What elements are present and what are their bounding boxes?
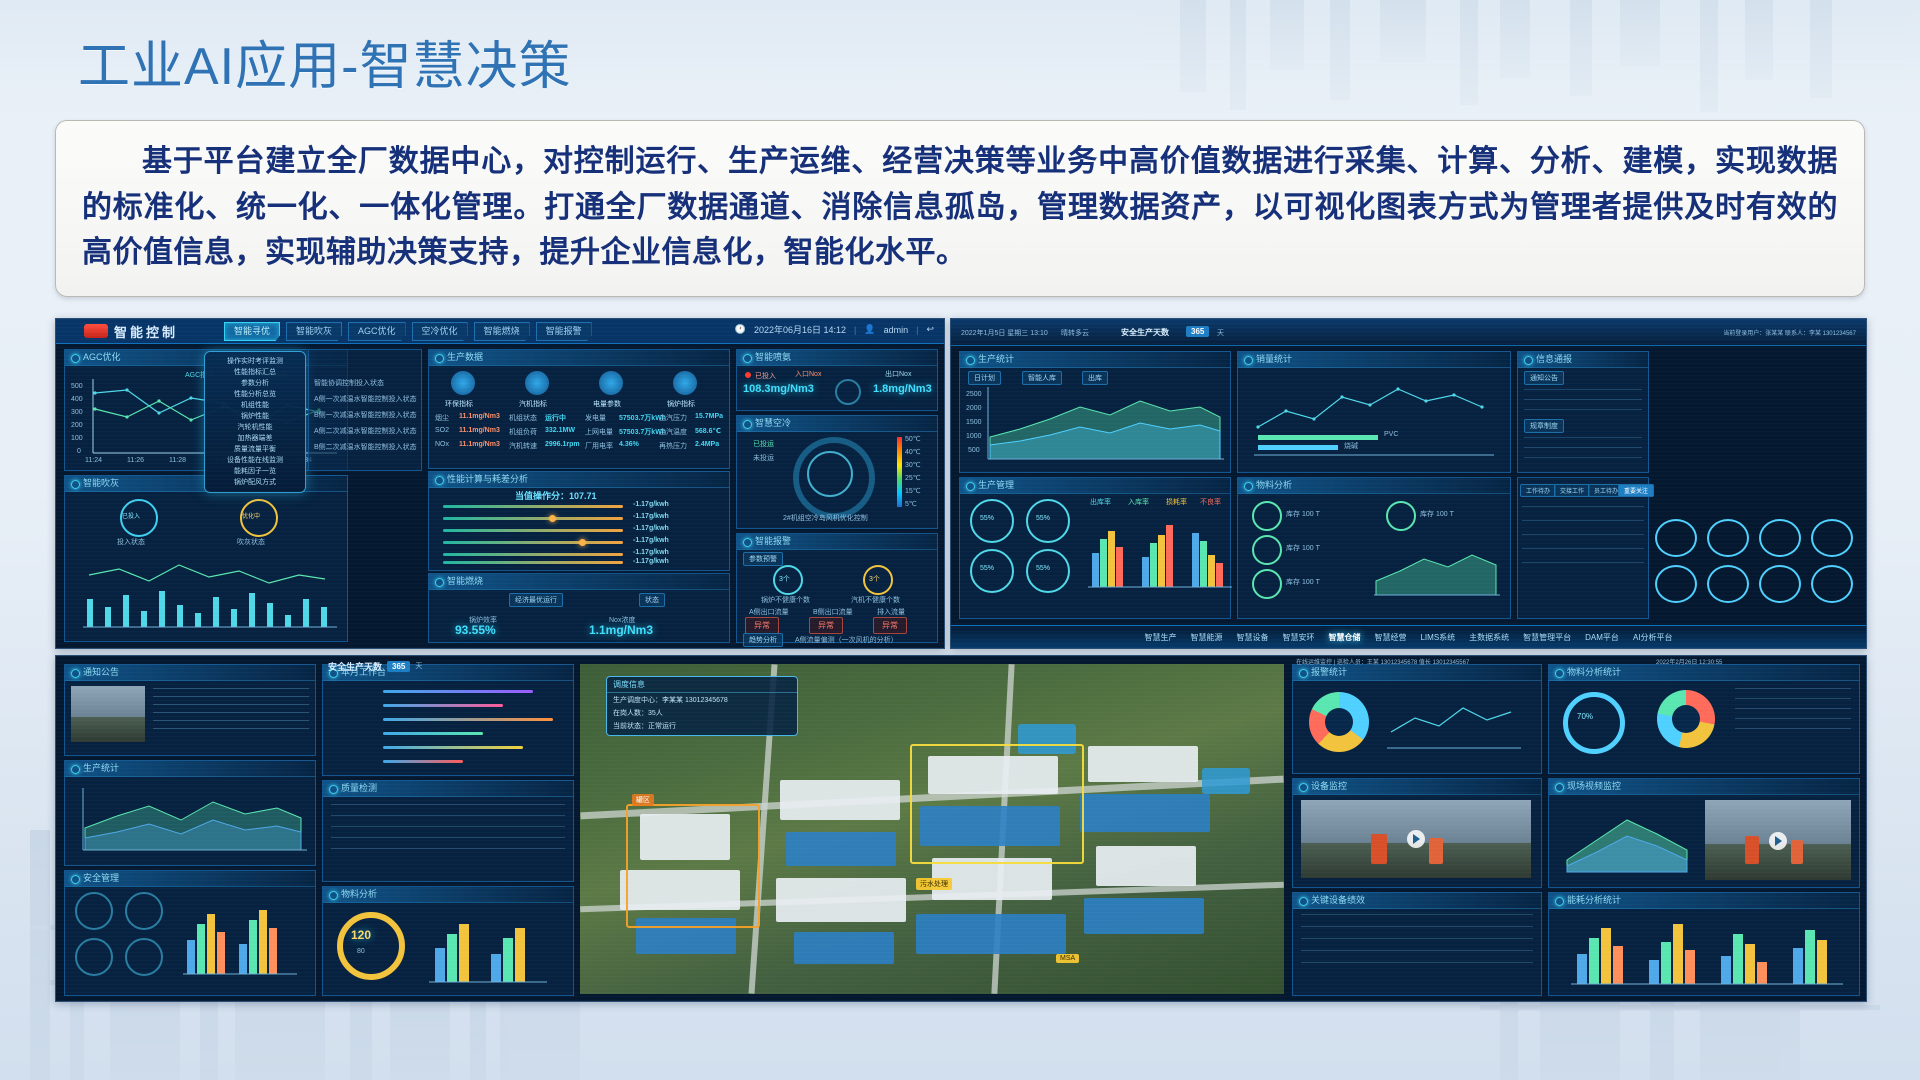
boiler-icon <box>673 371 697 395</box>
panel-c-safety: 安全管理 <box>64 870 316 996</box>
clock-icon: 🕐 <box>735 324 746 335</box>
panel-b-worklist: 工作待办 交接工作 员工待办 重要关注 <box>1517 477 1649 619</box>
c-safety-bar-chart <box>177 894 307 984</box>
ammonia-outlet-value: 1.8mg/Nm3 <box>873 383 932 395</box>
panel-c-news: 通知公告 <box>64 664 316 756</box>
prod-2-2-value: 4.36% <box>619 441 639 448</box>
screenshot-smart-warehouse-dashboard: 2022年1月5日 星期三 13:10 晴转多云 安全生产天数 365 天 当前… <box>950 318 1867 649</box>
prod-1-0-value: 运行中 <box>545 413 566 423</box>
panel-c-alarm-title: 报警统计 <box>1293 665 1541 681</box>
bottom-nav-9[interactable]: DAM平台 <box>1585 632 1619 643</box>
c-alarm-donut <box>1309 692 1369 752</box>
play-icon[interactable] <box>1407 830 1425 848</box>
panel-c-qc-body <box>323 796 573 881</box>
panel-ammonia-body: 已投入 入口Nox 108.3mg/Nm3 出口Nox 1.8mg/Nm3 <box>737 365 937 410</box>
aerial-info-line-1: 在岗人数：35人 <box>607 709 797 722</box>
alarm-param-title: 参数预警 <box>743 552 783 566</box>
tab-intelligent-combustion[interactable]: 智能燃烧 <box>474 322 530 341</box>
panel-b-info-bulletin: 信息通报 通知公告 规章制度 <box>1517 351 1649 473</box>
panel-intelligent-combustion: 智能燃烧 经济最优运行 状态 锅炉效率 93.55% Nox浓度 1.1mg/N… <box>428 573 730 643</box>
c-analysis-gauge <box>1563 692 1625 754</box>
ammonia-flow-icon <box>835 379 861 405</box>
panel-c-analysis: 物料分析统计 70% <box>1548 664 1860 774</box>
panel-b-material-analysis: 物料分析 库存 100 T 库存 100 T 库存 100 T 库存 100 T <box>1237 477 1511 619</box>
alarm-status-0[interactable]: 异常 <box>745 617 779 634</box>
control-status-row-2: A侧二次减温水智能控制投入状态 <box>314 426 417 436</box>
b-prod-area-chart <box>960 367 1230 467</box>
control-status-row-1: B侧一次减温水智能控制投入状态 <box>314 410 417 420</box>
panel-c-qc-title: 质量检测 <box>323 781 573 797</box>
tab-intelligent-optimization[interactable]: 智能寻优 <box>224 322 280 341</box>
prod-group-1-name: 汽机指标 <box>519 399 547 409</box>
alarm-button-2-label: 排入流量 <box>877 607 905 617</box>
soot-status-left: 已投入 <box>122 511 140 520</box>
dashboard-c-header: 安全生产天数 365 天 <box>320 656 588 676</box>
panel-c-safety-title: 安全管理 <box>65 871 315 887</box>
header-datetime: 2022年06月16日 14:12 <box>754 323 846 336</box>
panel-b-manage-title: 生产管理 <box>960 478 1230 494</box>
panel-production-body: 环保指标 汽机指标 电量参数 锅炉指标 烟尘 11.1mg/Nm3 SO2 11… <box>429 365 729 468</box>
user-icon: 👤 <box>864 324 875 335</box>
c-count-b: 70% <box>1577 712 1593 721</box>
aerial-info-line-0: 生产调度中心：李某某 13012345678 <box>607 693 797 709</box>
menu-item-9[interactable]: 设备性能在线监测 <box>205 455 305 466</box>
panel-alarm-title: 智能报警 <box>737 534 937 550</box>
menu-item-8[interactable]: 质量流量平衡 <box>205 444 305 455</box>
aircool-caption: 2#机组空冷岛风机优化控制 <box>783 513 868 523</box>
agc-x-tick-3: 11:28 <box>169 457 186 464</box>
perf-row-3-delta: -1.17g/kwh <box>633 537 669 544</box>
dashboard-a-tabs: 智能寻优 智能吹灰 AGC优化 空冷优化 智能燃烧 智能报警 <box>224 322 592 341</box>
perf-row-4-delta: -1.17g/kwh <box>633 549 669 556</box>
panel-c-kpi-title: 关键设备绩效 <box>1293 893 1541 909</box>
prod-0-1-label: SO2 <box>435 427 449 434</box>
aerial-tag-1: 污水处理 <box>916 878 952 890</box>
tab-agc-optimization[interactable]: AGC优化 <box>348 322 406 341</box>
panel-c-news-title: 通知公告 <box>65 665 315 681</box>
panel-air-cooling: 智慧空冷 已投运 未投运 50℃ 40℃ 30℃ 25℃ 15℃ 5℃ 2#机组… <box>736 415 938 529</box>
bottom-nav-6[interactable]: LIMS系统 <box>1420 632 1455 643</box>
panel-c-energy-body <box>1549 908 1859 995</box>
menu-item-1[interactable]: 性能指标汇总 <box>205 367 305 378</box>
prod-group-2-name: 电量参数 <box>593 399 621 409</box>
prod-group-3-name: 锅炉指标 <box>667 399 695 409</box>
b-manage-legend-0: 出库率 <box>1090 497 1111 507</box>
bottom-nav-7[interactable]: 主数据系统 <box>1469 632 1509 643</box>
device-video-feed[interactable] <box>1301 800 1531 878</box>
perf-score-colon: ： <box>560 491 569 501</box>
panel-b-material-title: 物料分析 <box>1238 478 1510 494</box>
dashboard-a-topbar: 智能控制 智能寻优 智能吹灰 AGC优化 空冷优化 智能燃烧 智能报警 🕐 20… <box>56 319 944 344</box>
bottom-nav-0[interactable]: 智慧生产 <box>1144 632 1176 643</box>
panel-ammonia-title: 智能喷氨 <box>737 350 937 366</box>
agc-x-tick-2: 11:26 <box>127 457 144 464</box>
panel-c-devmon-body <box>1293 794 1541 887</box>
screenshot-plant-overview-dashboard: 通知公告 生产统计 <box>55 655 1867 1002</box>
bottom-nav-1[interactable]: 智慧能源 <box>1190 632 1222 643</box>
panel-b-info-title: 信息通报 <box>1518 352 1648 368</box>
prod-0-2-value: 11.1mg/Nm3 <box>459 441 500 448</box>
aerial-info-line-2: 当前状态：正常运行 <box>607 722 797 735</box>
panel-combustion-title: 智能燃烧 <box>429 574 729 590</box>
panel-b-production-stats: 生产统计 日计划 智能人库 出库 2500 2000 1500 1000 500 <box>959 351 1231 473</box>
bottom-nav-2[interactable]: 智慧设备 <box>1236 632 1268 643</box>
dashboard-b-topbar: 2022年1月5日 星期三 13:10 晴转多云 安全生产天数 365 天 当前… <box>951 319 1866 346</box>
prod-1-2-value: 2996.1rpm <box>545 441 580 448</box>
alarm-count-right: 3个 <box>869 574 880 584</box>
tab-intelligent-alarm[interactable]: 智能报警 <box>536 322 592 341</box>
panel-c-prod-body <box>65 776 315 865</box>
b-material-item-1: 库存 100 T <box>1286 543 1320 553</box>
meta-divider: | <box>854 325 856 335</box>
prod-0-2-label: NOx <box>435 441 449 448</box>
perf-score-label: 当值操作分 <box>515 491 560 501</box>
panel-soot-blowing: 智能吹灰 已投入 优化中 投入状态 吹灰状态 <box>64 475 348 642</box>
site-video-feed[interactable] <box>1705 800 1851 880</box>
control-status-row-0: A侧一次减温水智能控制投入状态 <box>314 394 417 404</box>
prod-1-0-label: 机组状态 <box>509 413 537 423</box>
bottom-nav-8[interactable]: 智慧管理平台 <box>1523 632 1571 643</box>
aerial-annotation-box-1 <box>626 804 760 928</box>
panel-b-sales-title: 销量统计 <box>1238 352 1510 368</box>
dashboard-b-right-meta: 当前登录用户：张某某 联系人：李某 1301234567 <box>1723 328 1856 337</box>
aerial-info-card: 调度信息 生产调度中心：李某某 13012345678 在岗人数：35人 当前状… <box>606 676 798 736</box>
panel-b-material-body: 库存 100 T 库存 100 T 库存 100 T 库存 100 T <box>1238 493 1510 618</box>
ammonia-inlet-label: 入口Nox <box>795 369 821 379</box>
dashboard-b-safety-value: 365 <box>1186 326 1209 337</box>
menu-item-3[interactable]: 性能分析总览 <box>205 389 305 400</box>
alarm-count-left: 3个 <box>779 574 790 584</box>
c-gauge-ring <box>337 912 405 980</box>
panel-b-worklist-body: 工作待办 交接工作 员工待办 重要关注 <box>1518 480 1648 618</box>
c-gauge-sub: 80 <box>357 948 365 955</box>
dashboard-b-safety-unit: 天 <box>1217 328 1224 338</box>
panel-c-analysis-title: 物料分析统计 <box>1549 665 1859 681</box>
alarm-status-2[interactable]: 异常 <box>873 617 907 634</box>
aircool-status-on: 已投运 <box>753 439 774 449</box>
b-worklist-tab-1[interactable]: 交接工作 <box>1554 484 1590 497</box>
turbine-icon <box>525 371 549 395</box>
play-icon-2[interactable] <box>1769 832 1787 850</box>
soot-status-right: 优化中 <box>242 511 260 520</box>
prod-1-1-value: 332.1MW <box>545 427 575 434</box>
b-worklist-tab-3[interactable]: 重要关注 <box>1618 484 1654 497</box>
b-sales-bar-label-0: PVC <box>1384 431 1398 438</box>
b-manage-bar-chart <box>1080 511 1240 591</box>
panel-control-status-body: 智能协调控制投入状态 A侧一次减温水智能控制投入状态 B侧一次减温水智能控制投入… <box>309 352 421 470</box>
dashboard-a-brand: 智能控制 <box>114 322 178 341</box>
dashboard-c-header-value: 365 <box>387 661 410 672</box>
prod-0-0-value: 11.1mg/Nm3 <box>459 413 500 420</box>
panel-aircool-title: 智慧空冷 <box>737 416 937 432</box>
bottom-nav-4[interactable]: 智慧仓储 <box>1328 632 1360 643</box>
prod-1-2-label: 汽机转速 <box>509 441 537 451</box>
aircool-legend-5: 5℃ <box>905 500 917 508</box>
panel-b-manage-body: 55% 55% 55% 55% 出库率 入库率 损耗率 不良率 <box>960 493 1230 618</box>
tab-air-cooling[interactable]: 空冷优化 <box>412 322 468 341</box>
prod-2-0-label: 发电量 <box>585 413 606 423</box>
b-manage-pct-2: 55% <box>980 565 994 572</box>
aircool-legend-2: 30℃ <box>905 461 921 469</box>
panel-b-info-body: 通知公告 规章制度 <box>1518 367 1648 472</box>
b-info-section-0[interactable]: 通知公告 <box>1524 371 1564 385</box>
b-sales-line-chart <box>1238 367 1510 467</box>
aircool-legend-4: 15℃ <box>905 487 921 495</box>
panel-c-alarm-stats: 报警统计 <box>1292 664 1542 774</box>
b-manage-pct-1: 55% <box>1036 515 1050 522</box>
back-arrow-icon[interactable]: ↩ <box>926 324 934 335</box>
prod-3-0-label: 主汽压力 <box>659 413 687 423</box>
alarm-button-0-label: A侧出口流量 <box>749 607 789 617</box>
prod-3-0-value: 15.7MPa <box>695 413 723 420</box>
panel-performance-title: 性能计算与耗差分析 <box>429 472 729 488</box>
b-manage-legend-2: 损耗率 <box>1166 497 1187 507</box>
prod-0-0-label: 烟尘 <box>435 413 449 423</box>
header-username: admin <box>884 325 909 335</box>
menu-item-6[interactable]: 汽轮机性能 <box>205 422 305 433</box>
alarm-label-right: 汽机不健康个数 <box>851 595 900 605</box>
perf-row-5-delta: -1.17g/kwh <box>633 558 669 565</box>
combustion-metric1-value: 93.55% <box>455 623 496 637</box>
prod-1-1-label: 机组负荷 <box>509 427 537 437</box>
perf-row-1-delta: -1.17g/kwh <box>633 513 669 520</box>
panel-ammonia-injection: 智能喷氨 已投入 入口Nox 108.3mg/Nm3 出口Nox 1.8mg/N… <box>736 349 938 411</box>
combustion-header-right: 状态 <box>639 593 665 607</box>
b-manage-pct-3: 55% <box>1036 565 1050 572</box>
panel-c-kpi: 关键设备绩效 <box>1292 892 1542 996</box>
recycle-icon <box>451 371 475 395</box>
control-status-title: 智能协调控制投入状态 <box>314 378 384 388</box>
description-text: 基于平台建立全厂数据中心，对控制运行、生产运维、经营决策等业务中高价值数据进行采… <box>82 139 1838 276</box>
alarm-trend-title[interactable]: 趋势分析 <box>743 633 783 647</box>
menu-item-4[interactable]: 机组性能 <box>205 400 305 411</box>
prod-2-1-label: 上网电量 <box>585 427 613 437</box>
prod-3-1-value: 568.6℃ <box>695 427 721 435</box>
b-material-icon-2 <box>1252 569 1282 599</box>
panel-c-devmon-title: 设备监控 <box>1293 779 1541 795</box>
c-energy-bar-chart <box>1553 910 1853 994</box>
dropdown-menu-performance[interactable]: 操作实时考评监测 性能指标汇总 参数分析 性能分析总览 机组性能 锅炉性能 汽轮… <box>204 351 306 493</box>
panel-performance-analysis: 性能计算与耗差分析 当值操作分：107.71 -1.17g/kwh -1.17g… <box>428 471 730 571</box>
c-analysis-donut <box>1657 690 1715 748</box>
panel-c-video-body <box>1549 794 1859 887</box>
panel-c-dev-title: 物料分析 <box>323 887 573 903</box>
ammonia-status-dot <box>745 372 751 378</box>
panel-b-sales-stats: 销量统计 PVC 烧碱 <box>1237 351 1511 473</box>
news-thumbnail <box>71 686 145 742</box>
prod-3-2-label: 再热压力 <box>659 441 687 451</box>
menu-item-2[interactable]: 参数分析 <box>205 378 305 389</box>
dashboard-b-canvas: 2022年1月5日 星期三 13:10 晴转多云 安全生产天数 365 天 当前… <box>951 319 1866 648</box>
menu-item-11[interactable]: 锅炉配风方式 <box>205 477 305 488</box>
dashboard-a-canvas: 智能控制 智能寻优 智能吹灰 AGC优化 空冷优化 智能燃烧 智能报警 🕐 20… <box>56 319 944 648</box>
b-material-item-2: 库存 100 T <box>1286 577 1320 587</box>
panel-c-alarm-body <box>1293 680 1541 773</box>
dashboard-b-safety-label: 安全生产天数 <box>1121 327 1169 338</box>
meta-divider-2: | <box>916 325 918 335</box>
panel-c-energy: 能耗分析统计 <box>1548 892 1860 996</box>
perf-score-value: 107.71 <box>569 491 597 501</box>
screenshot-intelligent-control-dashboard: 智能控制 智能寻优 智能吹灰 AGC优化 空冷优化 智能燃烧 智能报警 🕐 20… <box>55 318 945 649</box>
b-material-item-3: 库存 100 T <box>1420 509 1454 519</box>
panel-c-work: 本月工作台 <box>322 664 574 776</box>
panel-c-energy-title: 能耗分析统计 <box>1549 893 1859 909</box>
company-logo-icon <box>84 324 108 338</box>
panel-b-prod-title: 生产统计 <box>960 352 1230 368</box>
c-dev-bar-chart <box>419 910 559 990</box>
panel-c-device-monitor: 设备监控 <box>1292 778 1542 888</box>
panel-c-video: 现场视频监控 <box>1548 778 1860 888</box>
panel-c-news-body <box>65 680 315 755</box>
panel-alarm-body: 参数预警 3个 3个 锅炉不健康个数 汽机不健康个数 A侧出口流量 B侧出口流量… <box>737 549 937 642</box>
panel-intelligent-alarm: 智能报警 参数预警 3个 3个 锅炉不健康个数 汽机不健康个数 A侧出口流量 B… <box>736 533 938 643</box>
dashboard-c-header-unit: 天 <box>415 661 422 671</box>
panel-combustion-body: 经济最优运行 状态 锅炉效率 93.55% Nox浓度 1.1mg/Nm3 <box>429 589 729 642</box>
alarm-label-left: 锅炉不健康个数 <box>761 595 810 605</box>
b-tank-visuals <box>1651 499 1861 609</box>
combustion-header-left: 经济最优运行 <box>509 593 563 607</box>
soot-label-right: 吹灰状态 <box>237 537 265 547</box>
panel-c-work-body <box>323 680 573 775</box>
prod-2-2-label: 厂用电率 <box>585 441 613 451</box>
panel-performance-body: 当值操作分：107.71 -1.17g/kwh -1.17g/kwh -1.17… <box>429 487 729 570</box>
dashboard-b-weather: 晴转多云 <box>1061 328 1089 338</box>
alarm-status-1[interactable]: 异常 <box>809 617 843 634</box>
dashboard-a-header-meta: 🕐 2022年06月16日 14:12 | 👤 admin | ↩ <box>735 323 934 336</box>
dashboard-c-canvas: 通知公告 生产统计 <box>56 656 1866 1001</box>
b-manage-legend-3: 不良率 <box>1200 497 1221 507</box>
aerial-plant-view: 罐区 污水处理 MSA 调度信息 生产调度中心：李某某 13012345678 … <box>580 664 1284 994</box>
description-box: 基于平台建立全厂数据中心，对控制运行、生产运维、经营决策等业务中高价值数据进行采… <box>55 120 1865 297</box>
dashboard-c-right-header2: 2022年2月26日 12:30:55 <box>1656 657 1722 666</box>
combustion-metric2-value: 1.1mg/Nm3 <box>589 623 653 637</box>
panel-c-analysis-body: 70% <box>1549 680 1859 773</box>
menu-item-10[interactable]: 能耗因子一览 <box>205 466 305 477</box>
panel-b-sales-body: PVC 烧碱 <box>1238 367 1510 472</box>
perf-row-2-delta: -1.17g/kwh <box>633 525 669 532</box>
b-worklist-tab-0[interactable]: 工作待办 <box>1520 484 1556 497</box>
prod-3-2-value: 2.4MPa <box>695 441 719 448</box>
panel-aircool-body: 已投运 未投运 50℃ 40℃ 30℃ 25℃ 15℃ 5℃ 2#机组空冷岛风机… <box>737 431 937 528</box>
panel-c-video-title: 现场视频监控 <box>1549 779 1859 795</box>
prod-3-1-label: 主汽温度 <box>659 427 687 437</box>
soot-trend-chart <box>65 547 347 642</box>
page-title: 工业AI应用-智慧决策 <box>78 24 571 99</box>
panel-c-dev: 物料分析 120 80 <box>322 886 574 996</box>
soot-label-left: 投入状态 <box>117 537 145 547</box>
panel-c-safety-body <box>65 886 315 995</box>
aircool-fan-inner <box>807 451 853 497</box>
c-alarm-line-chart <box>1381 686 1531 766</box>
c-gauge-value: 120 <box>351 928 371 942</box>
panel-soot-body: 已投入 优化中 投入状态 吹灰状态 <box>65 491 347 641</box>
aerial-tag-2: MSA <box>1056 954 1079 963</box>
prod-group-0-name: 环保指标 <box>445 399 473 409</box>
alarm-trend-note: A侧流量偏测（一次风机的分析） <box>795 635 898 645</box>
panel-c-qc: 质量检测 <box>322 780 574 882</box>
b-material-item-0: 库存 100 T <box>1286 509 1320 519</box>
menu-item-7[interactable]: 加热器端差 <box>205 433 305 444</box>
panel-b-prod-body: 日计划 智能人库 出库 2500 2000 1500 1000 500 <box>960 367 1230 472</box>
dashboard-b-datetime: 2022年1月5日 星期三 13:10 <box>961 330 1048 337</box>
c-surface-plot <box>1557 800 1697 880</box>
aircool-temp-legend-strip <box>897 437 902 507</box>
bottom-nav-3[interactable]: 智慧安环 <box>1282 632 1314 643</box>
panel-production-title: 生产数据 <box>429 350 729 366</box>
b-sales-bar-label-1: 烧碱 <box>1344 441 1358 451</box>
doc-icon <box>599 371 623 395</box>
prod-0-1-value: 11.1mg/Nm3 <box>459 427 500 434</box>
dashboard-b-bottom-nav: 智慧生产 智慧能源 智慧设备 智慧安环 智慧仓储 智慧经营 LIMS系统 主数据… <box>951 625 1866 648</box>
b-info-section-1[interactable]: 规章制度 <box>1524 419 1564 433</box>
ammonia-status: 已投入 <box>755 371 776 381</box>
tab-soot-blowing[interactable]: 智能吹灰 <box>286 322 342 341</box>
aerial-info-title: 调度信息 <box>607 677 797 693</box>
panel-control-status: 智能协调控制投入状态 A侧一次减温水智能控制投入状态 B侧一次减温水智能控制投入… <box>308 349 422 471</box>
dashboard-c-right-header: 在线运维监控 | 巡检人员：王某 13012345678 值长 13012345… <box>1296 657 1469 666</box>
b-material-icon-0 <box>1252 501 1282 531</box>
bottom-nav-10[interactable]: AI分析平台 <box>1633 632 1673 643</box>
panel-c-dev-body: 120 80 <box>323 902 573 995</box>
b-material-area <box>1368 535 1508 605</box>
panel-c-prod-stats: 生产统计 <box>64 760 316 866</box>
panel-c-kpi-body <box>1293 908 1541 995</box>
aerial-tag-0: 罐区 <box>632 794 654 806</box>
dashboard-c-header-title: 安全生产天数 <box>328 660 382 673</box>
b-material-icon-3 <box>1386 501 1416 531</box>
aircool-legend-0: 50℃ <box>905 435 921 443</box>
panel-b-production-manage: 生产管理 55% 55% 55% 55% 出库率 入库率 损耗率 不良率 <box>959 477 1231 619</box>
c-prod-area-chart <box>65 776 315 861</box>
perf-row-0-delta: -1.17g/kwh <box>633 501 669 508</box>
b-material-icon-1 <box>1252 535 1282 565</box>
bottom-nav-5[interactable]: 智慧经营 <box>1374 632 1406 643</box>
menu-item-0[interactable]: 操作实时考评监测 <box>205 356 305 367</box>
control-status-row-3: B侧二次减温水智能控制投入状态 <box>314 442 417 452</box>
aircool-legend-1: 40℃ <box>905 448 921 456</box>
aerial-annotation-box-2 <box>910 744 1084 864</box>
ammonia-outlet-label: 出口Nox <box>885 369 911 379</box>
b-manage-legend-1: 入库率 <box>1128 497 1149 507</box>
aircool-status-off: 未投运 <box>753 453 774 463</box>
aircool-legend-3: 25℃ <box>905 474 921 482</box>
b-manage-pct-0: 55% <box>980 515 994 522</box>
alarm-button-1-label: B侧出口流量 <box>813 607 853 617</box>
menu-item-5[interactable]: 锅炉性能 <box>205 411 305 422</box>
ammonia-inlet-value: 108.3mg/Nm3 <box>743 383 814 395</box>
panel-production-data: 生产数据 环保指标 汽机指标 电量参数 锅炉指标 烟尘 11.1mg/Nm3 S… <box>428 349 730 469</box>
agc-x-tick-1: 11:24 <box>85 457 102 464</box>
panel-c-prod-title: 生产统计 <box>65 761 315 777</box>
